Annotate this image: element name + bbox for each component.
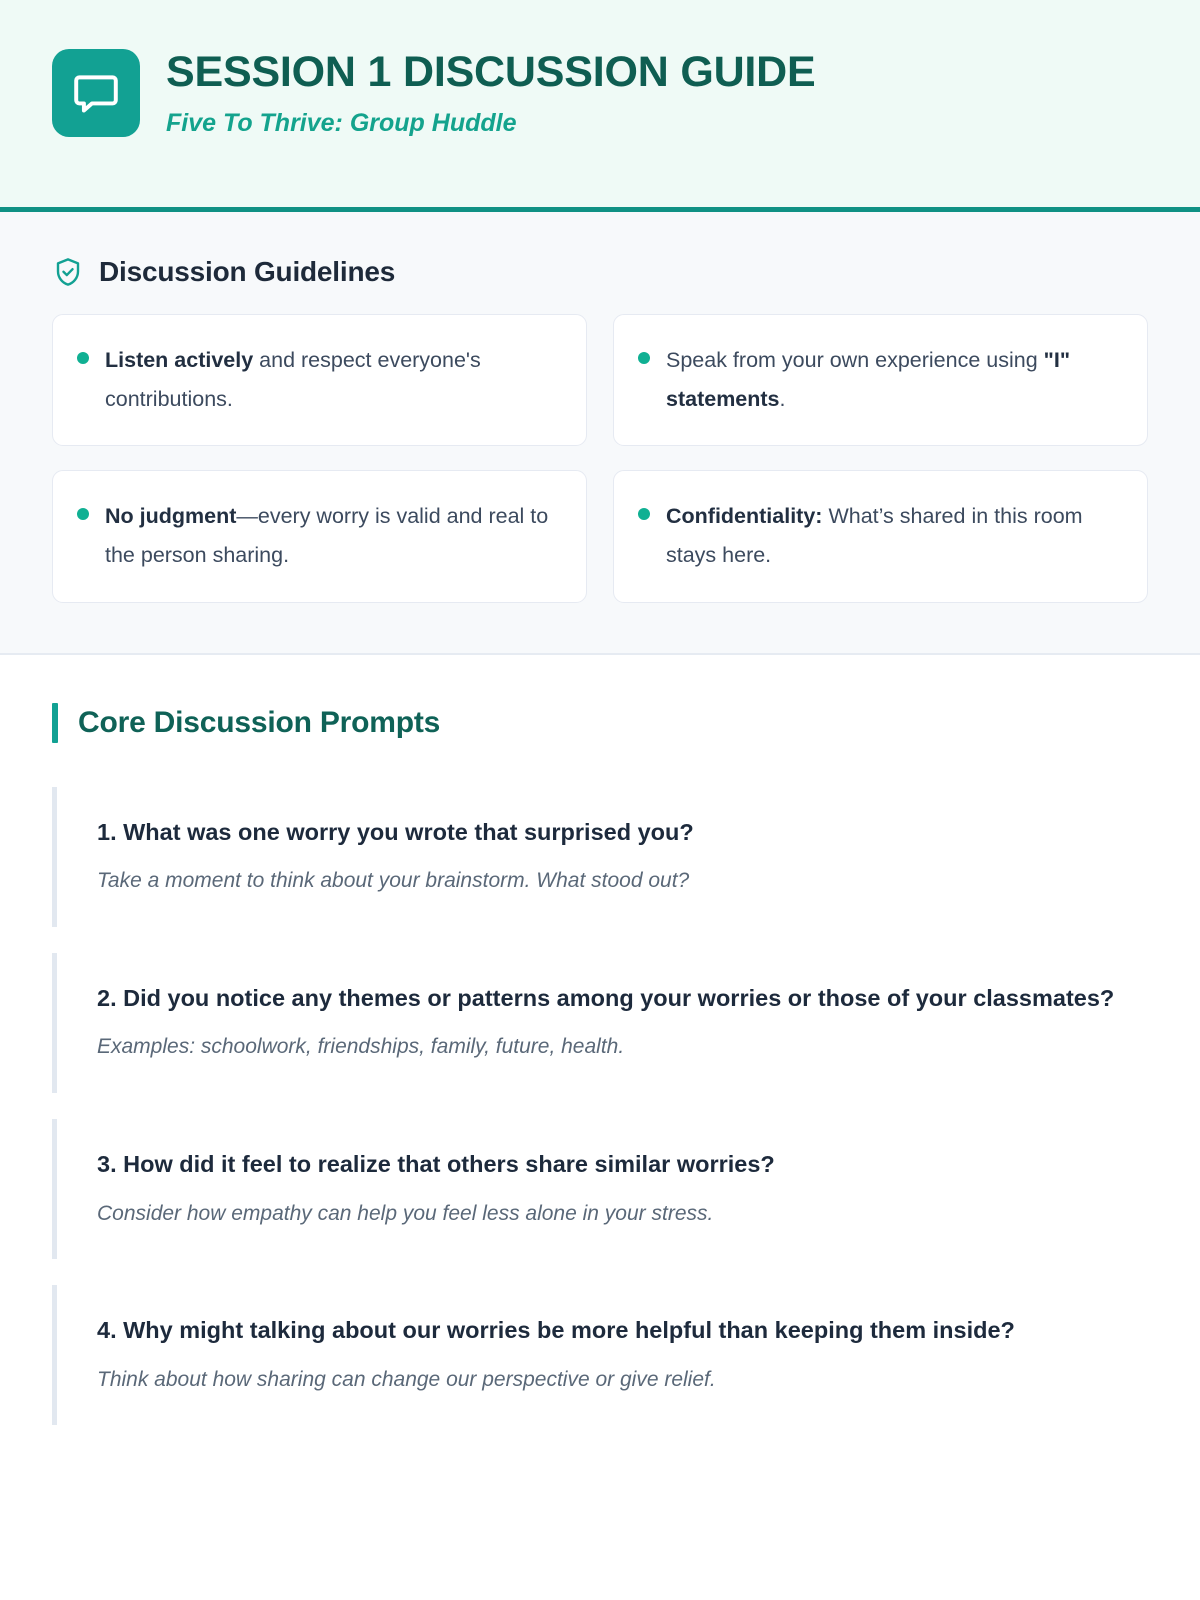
guidelines-header: Discussion Guidelines <box>52 256 1148 288</box>
guideline-card: Listen actively and respect everyone's c… <box>52 314 587 446</box>
bullet-dot-icon <box>77 508 89 520</box>
prompts-section-title: Core Discussion Prompts <box>78 706 440 740</box>
guideline-bold-lead: Listen actively <box>105 348 253 372</box>
guidelines-title: Discussion Guidelines <box>99 256 395 288</box>
guideline-text: Confidentiality: What’s shared in this r… <box>666 497 1121 575</box>
core-discussion-prompts-section: Core Discussion Prompts 1. What was one … <box>0 655 1200 1426</box>
prompt-hint: Examples: schoolwork, friendships, famil… <box>97 1031 1148 1063</box>
prompt-question: 3. How did it feel to realize that other… <box>97 1147 1148 1183</box>
guideline-bold-lead: No judgment <box>105 504 236 528</box>
guideline-card: No judgment—every worry is valid and rea… <box>52 470 587 602</box>
prompt-hint: Consider how empathy can help you feel l… <box>97 1198 1148 1230</box>
guideline-rest: Speak from your own experience using <box>666 348 1044 372</box>
page-title: SESSION 1 DISCUSSION GUIDE <box>166 48 816 96</box>
prompt-item: 1. What was one worry you wrote that sur… <box>52 787 1148 927</box>
header-text-group: SESSION 1 DISCUSSION GUIDE Five To Thriv… <box>166 46 816 138</box>
prompt-hint: Think about how sharing can change our p… <box>97 1364 1148 1396</box>
bullet-dot-icon <box>638 508 650 520</box>
prompt-question: 1. What was one worry you wrote that sur… <box>97 815 1148 851</box>
guideline-card-grid: Listen actively and respect everyone's c… <box>52 314 1148 603</box>
guideline-card: Speak from your own experience using "I"… <box>613 314 1148 446</box>
prompt-item: 4. Why might talking about our worries b… <box>52 1285 1148 1425</box>
discussion-guide-page: SESSION 1 DISCUSSION GUIDE Five To Thriv… <box>0 0 1200 1600</box>
guideline-tail-end: . <box>780 387 786 411</box>
bullet-dot-icon <box>638 352 650 364</box>
section-accent-bar <box>52 703 58 743</box>
guideline-card: Confidentiality: What’s shared in this r… <box>613 470 1148 602</box>
chat-bubble-icon <box>52 49 140 137</box>
prompt-question: 4. Why might talking about our worries b… <box>97 1313 1148 1349</box>
prompt-item: 2. Did you notice any themes or patterns… <box>52 953 1148 1093</box>
guideline-text: No judgment—every worry is valid and rea… <box>105 497 560 575</box>
prompts-header: Core Discussion Prompts <box>52 703 1148 743</box>
guideline-bold-lead: Confidentiality: <box>666 504 822 528</box>
prompt-question: 2. Did you notice any themes or patterns… <box>97 981 1148 1017</box>
page-header: SESSION 1 DISCUSSION GUIDE Five To Thriv… <box>0 0 1200 212</box>
shield-check-icon <box>52 256 84 288</box>
prompt-hint: Take a moment to think about your brains… <box>97 865 1148 897</box>
guideline-text: Speak from your own experience using "I"… <box>666 341 1121 419</box>
discussion-guidelines-section: Discussion Guidelines Listen actively an… <box>0 212 1200 655</box>
guideline-text: Listen actively and respect everyone's c… <box>105 341 560 419</box>
prompt-list: 1. What was one worry you wrote that sur… <box>52 787 1148 1426</box>
prompt-item: 3. How did it feel to realize that other… <box>52 1119 1148 1259</box>
page-subtitle: Five To Thrive: Group Huddle <box>166 108 816 138</box>
bullet-dot-icon <box>77 352 89 364</box>
